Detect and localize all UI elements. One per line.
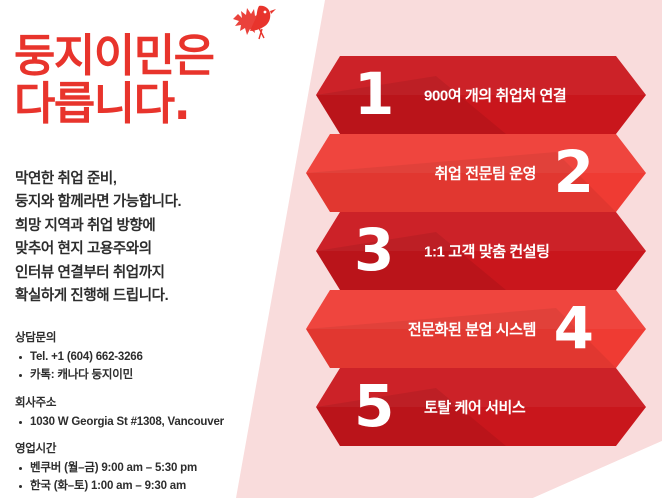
step-arrow-4[interactable]: 4 전문화된 분업 시스템 bbox=[306, 290, 646, 368]
step-arrow-5-number: 5 bbox=[354, 377, 394, 435]
step-arrow-3[interactable]: 3 1:1 고객 맞춤 컨설팅 bbox=[316, 212, 646, 290]
step-arrow-2-number: 2 bbox=[554, 143, 594, 201]
step-arrow-5[interactable]: 5 토탈 케어 서비스 bbox=[316, 368, 646, 446]
step-arrow-5-label: 토탈 케어 서비스 bbox=[424, 397, 525, 418]
step-arrow-3-number: 3 bbox=[354, 221, 394, 279]
step-arrow-4-number: 4 bbox=[554, 299, 594, 357]
step-arrow-2[interactable]: 2 취업 전문팀 운영 bbox=[306, 134, 646, 212]
step-arrow-1[interactable]: 1 900여 개의 취업처 연결 bbox=[316, 56, 646, 134]
poster-canvas: 둥지이민은 다릅니다. 막연한 취업 준비, 둥지와 함께라면 가능합니다. 희… bbox=[0, 0, 662, 498]
step-arrow-1-number: 1 bbox=[354, 65, 394, 123]
step-arrow-1-label: 900여 개의 취업처 연결 bbox=[424, 85, 566, 106]
step-arrow-4-label: 전문화된 분업 시스템 bbox=[408, 319, 536, 340]
step-arrow-3-label: 1:1 고객 맞춤 컨설팅 bbox=[424, 241, 550, 262]
step-arrow-2-label: 취업 전문팀 운영 bbox=[435, 163, 536, 184]
steps-arrow-list: 1 900여 개의 취업처 연결 2 취업 전문팀 운영 bbox=[0, 0, 662, 498]
